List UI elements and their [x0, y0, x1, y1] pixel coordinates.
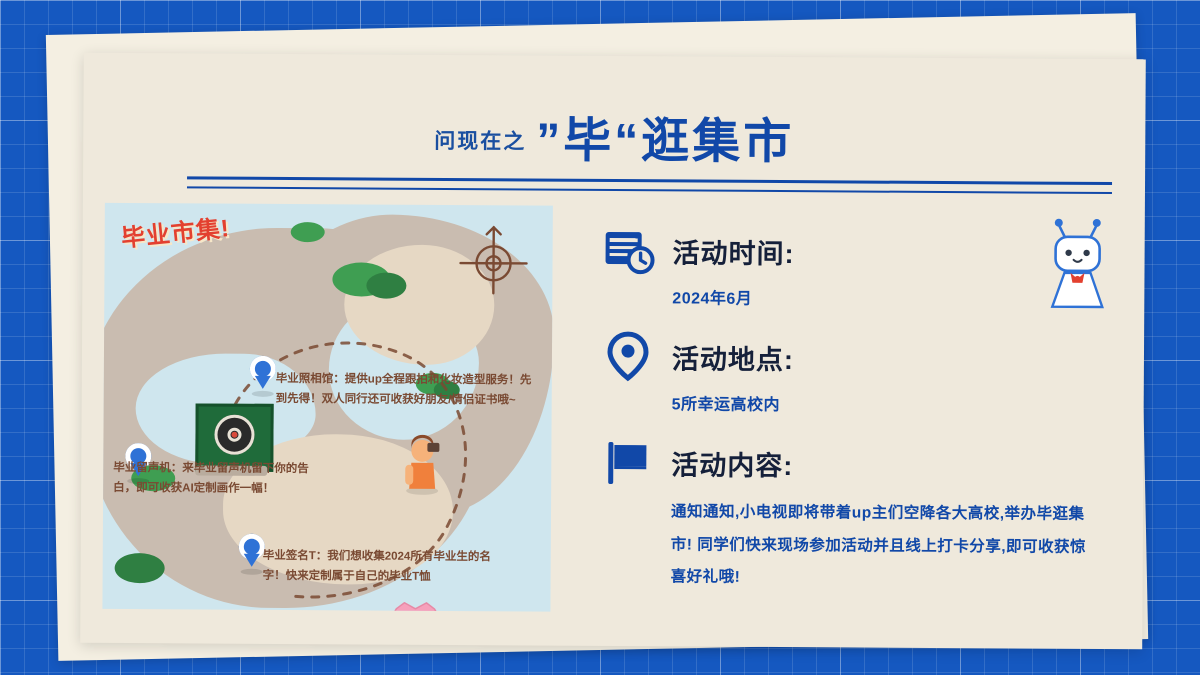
info-title-time: 活动时间: — [672, 231, 794, 271]
info-block-location: 活动地点: 5所幸运高校内 — [602, 330, 1113, 417]
map-pin-tshirt — [239, 534, 265, 568]
map-note-photo-studio: 毕业照相馆：提供up全程跟拍和化妆造型服务！先到先得！双人同行还可收获好朋友/情… — [276, 369, 538, 411]
map-note-tshirt: 毕业签名T：我们想收集2024所有毕业生的名字！快来定制属于自己的毕业T恤 — [263, 546, 493, 588]
map-pin-photo-studio — [250, 356, 276, 390]
info-title-content: 活动内容: — [671, 443, 793, 483]
info-body-content: 通知通知,小电视即将带着up主们空降各大高校,举办毕逛集市! 同学们快来现场参加… — [671, 496, 1102, 596]
mascot-icon — [1036, 207, 1119, 317]
poster-card: 问现在之 ”毕“逛集市 毕业市集! — [80, 53, 1146, 649]
flag-icon — [601, 436, 653, 488]
compass-icon — [456, 223, 530, 297]
tshirt-icon — [386, 597, 444, 612]
location-pin-icon — [602, 330, 654, 382]
map-note-gramophone: 毕业留声机：来毕业留声机留下你的告白，即可收获AI定制画作一幅！ — [113, 458, 313, 499]
title-divider — [187, 176, 1112, 194]
event-map: 毕业市集! — [102, 203, 552, 612]
poster-title: 问现在之 ”毕“逛集市 — [83, 115, 1145, 169]
title-prefix: 问现在之 — [434, 125, 526, 166]
photographer-icon — [399, 423, 445, 495]
info-body-location: 5所幸运高校内 — [672, 390, 1112, 417]
info-title-location: 活动地点: — [672, 337, 794, 377]
calendar-icon — [602, 224, 654, 276]
info-block-content: 活动内容: 通知通知,小电视即将带着up主们空降各大高校,举办毕逛集市! 同学们… — [601, 436, 1112, 597]
title-main: ”毕“逛集市 — [536, 118, 794, 168]
